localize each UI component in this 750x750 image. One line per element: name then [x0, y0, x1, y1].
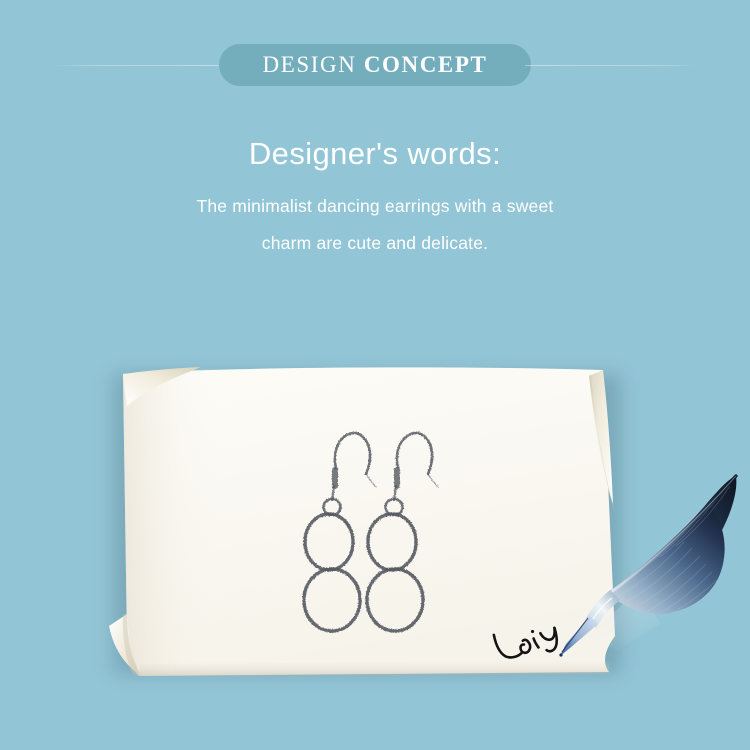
signature-letter-o	[518, 639, 531, 654]
earring-left	[304, 433, 376, 631]
earring-left-oval-upper	[305, 514, 353, 570]
signature-letter-l	[494, 628, 523, 660]
earring-left-hook-tip	[366, 474, 376, 487]
paper-left-shading	[123, 368, 227, 676]
badge-text-regular: DESIGN	[263, 52, 364, 77]
earring-right-hook	[397, 433, 432, 474]
designer-words-headline: Designer's words:	[0, 136, 750, 172]
earring-left-hook	[335, 433, 370, 474]
body-line-2: charm are cute and delicate.	[0, 225, 750, 262]
signature-letter-i	[534, 638, 539, 648]
body-line-1: The minimalist dancing earrings with a s…	[0, 188, 750, 225]
designer-words-body: The minimalist dancing earrings with a s…	[0, 188, 750, 262]
earrings-sketch	[296, 420, 446, 642]
section-title-badge: DESIGN CONCEPT	[219, 44, 532, 86]
divider-left	[52, 65, 225, 66]
earring-left-oval-lower	[304, 569, 360, 631]
quill-nib-tip	[559, 653, 562, 656]
earring-right	[367, 433, 438, 631]
divider-right	[525, 65, 698, 66]
design-concept-banner: DESIGN CONCEPT Designer's words: The min…	[0, 0, 750, 750]
signature-letter-i-dot	[531, 629, 535, 633]
quill-vane-lower	[608, 504, 725, 614]
earring-right-oval-lower	[367, 569, 423, 631]
badge-text-bold: CONCEPT	[364, 52, 488, 77]
feather-quill-pen	[556, 468, 750, 658]
header-badge-row: DESIGN CONCEPT	[0, 44, 750, 86]
earring-right-oval-upper	[368, 514, 416, 570]
earring-right-hook-tip	[428, 474, 438, 487]
